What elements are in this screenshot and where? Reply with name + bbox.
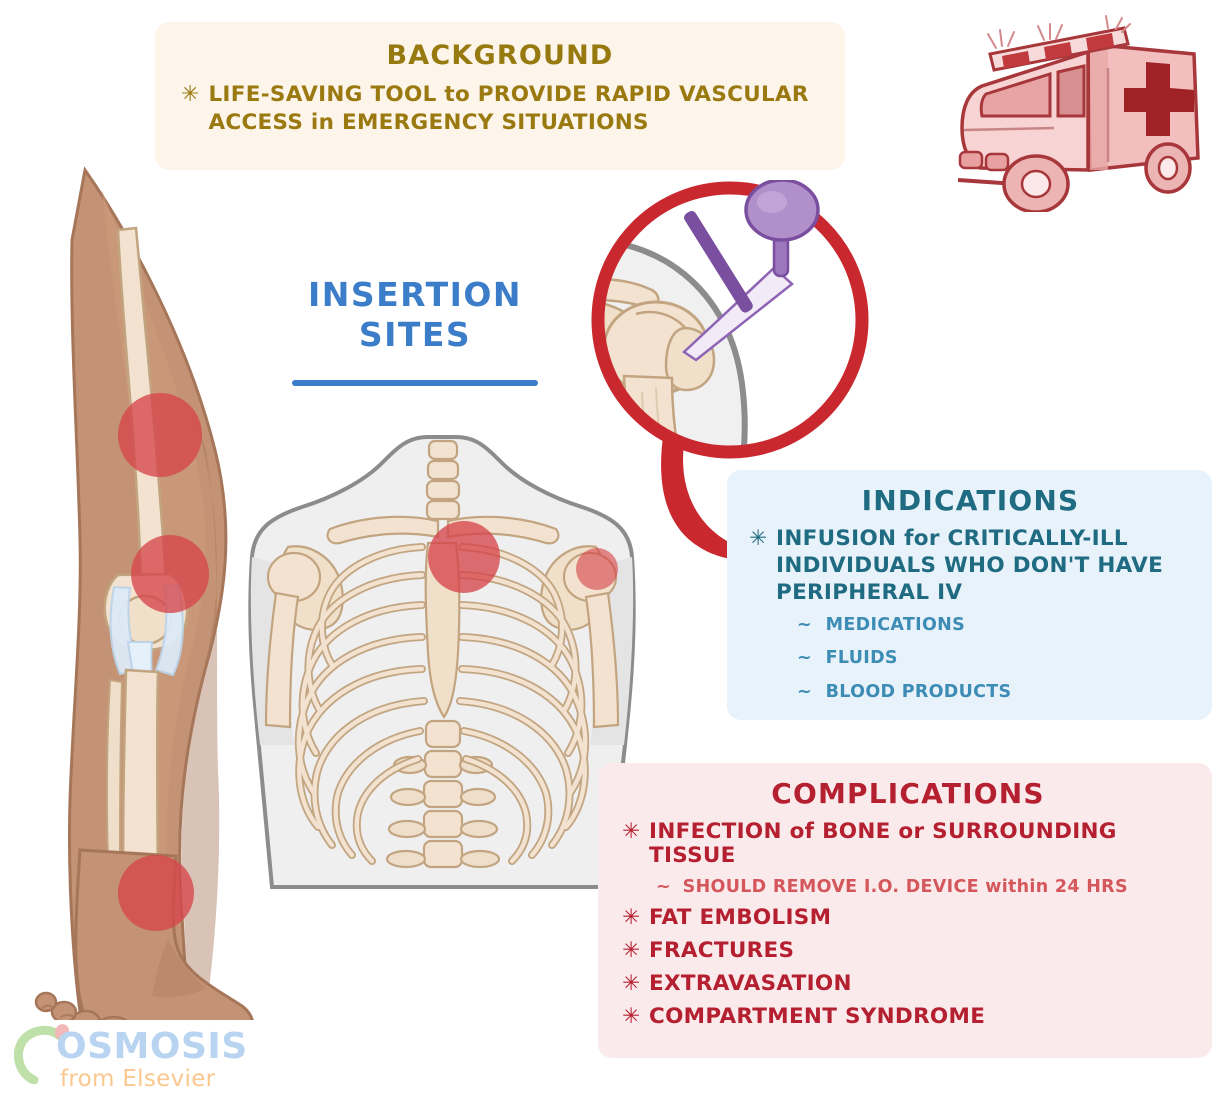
complications-item-text: FRACTURES bbox=[649, 939, 1194, 963]
asterisk-bullet-icon: ✳ bbox=[622, 1005, 640, 1029]
marker-proximal-tibia bbox=[131, 535, 209, 613]
ambulance-icon bbox=[958, 12, 1220, 212]
background-bullet: ✳ LIFE-SAVING TOOL to PROVIDE RAPID VASC… bbox=[181, 81, 819, 136]
background-title: BACKGROUND bbox=[181, 40, 819, 71]
insertion-sites-heading: INSERTION SITES bbox=[290, 275, 540, 356]
complications-sub-text: SHOULD REMOVE I.O. DEVICE within 24 HRS bbox=[683, 877, 1194, 897]
insertion-sites-line2: SITES bbox=[290, 315, 540, 355]
asterisk-bullet-icon: ✳ bbox=[622, 906, 640, 930]
marker-sternum bbox=[428, 521, 500, 593]
indications-sub-item: ~ MEDICATIONS bbox=[797, 616, 1192, 635]
asterisk-bullet-icon: ✳ bbox=[622, 820, 640, 844]
indications-sub-item: ~ BLOOD PRODUCTS bbox=[797, 683, 1192, 702]
osmosis-wordmark: OSMOSIS bbox=[56, 1026, 248, 1067]
tilde-bullet-icon: ~ bbox=[656, 877, 671, 897]
complications-item: ✳ INFECTION of BONE or SURROUNDING TISSU… bbox=[622, 820, 1194, 868]
marker-distal-femur bbox=[118, 393, 202, 477]
indications-sub-text: FLUIDS bbox=[826, 649, 1192, 668]
osmosis-subtitle: from Elsevier bbox=[60, 1066, 215, 1092]
complications-panel: COMPLICATIONS ✳ INFECTION of BONE or SUR… bbox=[598, 763, 1212, 1058]
complications-item-text: INFECTION of BONE or SURROUNDING TISSUE bbox=[649, 820, 1194, 868]
insertion-sites-line1: INSERTION bbox=[290, 275, 540, 315]
complications-title: COMPLICATIONS bbox=[622, 777, 1194, 810]
osmosis-logo: OSMOSIS from Elsevier bbox=[8, 1018, 223, 1102]
complications-sub-item: ~ SHOULD REMOVE I.O. DEVICE within 24 HR… bbox=[656, 877, 1194, 897]
background-bullet-text: LIFE-SAVING TOOL to PROVIDE RAPID VASCUL… bbox=[208, 81, 819, 136]
indications-sub-text: BLOOD PRODUCTS bbox=[826, 683, 1192, 702]
tilde-bullet-icon: ~ bbox=[797, 649, 812, 668]
indications-sub-item: ~ FLUIDS bbox=[797, 649, 1192, 668]
asterisk-bullet-icon: ✳ bbox=[622, 972, 640, 996]
complications-item: ✳ COMPARTMENT SYNDROME bbox=[622, 1005, 1194, 1029]
indications-title: INDICATIONS bbox=[749, 484, 1192, 517]
marker-distal-tibia bbox=[118, 855, 194, 931]
complications-item-text: COMPARTMENT SYNDROME bbox=[649, 1005, 1194, 1029]
complications-item: ✳ FRACTURES bbox=[622, 939, 1194, 963]
complications-item: ✳ EXTRAVASATION bbox=[622, 972, 1194, 996]
background-panel: BACKGROUND ✳ LIFE-SAVING TOOL to PROVIDE… bbox=[155, 22, 845, 170]
complications-item-text: FAT EMBOLISM bbox=[649, 906, 1194, 930]
indications-sub-text: MEDICATIONS bbox=[826, 616, 1192, 635]
complications-item: ✳ FAT EMBOLISM bbox=[622, 906, 1194, 930]
indications-bullet-text: INFUSION for CRITICALLY-ILL INDIVIDUALS … bbox=[776, 525, 1192, 606]
tilde-bullet-icon: ~ bbox=[797, 616, 812, 635]
asterisk-bullet-icon: ✳ bbox=[749, 525, 767, 552]
complications-item-text: EXTRAVASATION bbox=[649, 972, 1194, 996]
insertion-sites-underline bbox=[292, 380, 538, 386]
asterisk-bullet-icon: ✳ bbox=[181, 81, 199, 109]
tilde-bullet-icon: ~ bbox=[797, 683, 812, 702]
indications-panel: INDICATIONS ✳ INFUSION for CRITICALLY-IL… bbox=[727, 470, 1212, 720]
indications-bullet: ✳ INFUSION for CRITICALLY-ILL INDIVIDUAL… bbox=[749, 525, 1192, 606]
asterisk-bullet-icon: ✳ bbox=[622, 939, 640, 963]
